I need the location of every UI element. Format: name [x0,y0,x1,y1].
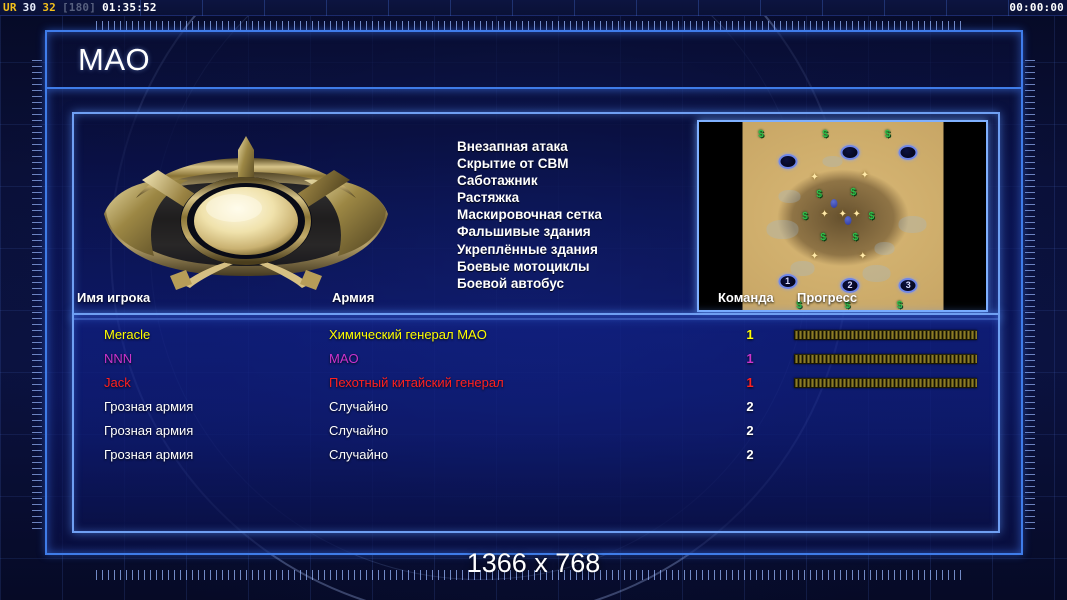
table-row[interactable]: Jack Пехотный китайский генерал 1 [74,371,998,395]
table-row[interactable]: Грозная армия Случайно 2 [74,443,998,467]
supply-dock-marker: $ [820,233,826,243]
table-row[interactable]: Грозная армия Случайно 2 [74,395,998,419]
supply-dock-marker: $ [758,130,764,140]
ability-item: Укреплённые здания [457,241,697,258]
progress-bar [794,330,977,340]
supply-dock-marker: $ [853,233,859,243]
supply-dock-marker: $ [869,212,875,222]
map-preview[interactable]: $$$$$$$$$$$$✦✦✦✦✦✦✦123 [697,120,988,312]
general-emblem-icon [96,136,396,298]
player-progress [794,378,977,388]
topbar-grid-line [760,0,761,16]
topbar-grid-line [636,0,637,16]
player-name: Jack [104,371,131,395]
fps-value: 30 [20,1,40,14]
topbar-grid-line [1008,0,1009,16]
topbar-grid-line [822,0,823,16]
topbar-grid-line [512,0,513,16]
player-team: 2 [740,419,760,443]
map-preview-image: $$$$$$$$$$$$✦✦✦✦✦✦✦123 [742,122,943,310]
resolution-label: 1366 x 768 [0,548,1067,579]
player-name: Грозная армия [104,395,193,419]
start-position-marker[interactable] [778,154,797,169]
supply-dock-marker: $ [851,188,857,198]
player-name: Грозная армия [104,443,193,467]
progress-bar [794,378,977,388]
topbar-grid-line [202,0,203,16]
ability-item: Боевые мотоциклы [457,258,697,275]
supply-dock-marker: $ [802,212,808,222]
player-name: Meracle [104,323,150,347]
ability-item: Маскировочная сетка [457,206,697,223]
start-position-marker[interactable] [899,145,918,160]
player-name: Грозная армия [104,419,193,443]
terrain-patch [778,190,800,203]
start-position-marker[interactable]: 1 [778,274,797,289]
topbar-grid-line [946,0,947,16]
supply-dock-marker: $ [885,130,891,140]
topbar-grid-line [574,0,575,16]
lobby-panel: MAO [45,30,1023,555]
topbar-grid-line [884,0,885,16]
terrain-patch [822,156,842,167]
emblem-container [74,114,409,318]
player-table: Meracle Химический генерал MAO 1 NNN MAO… [72,313,1000,533]
oil-derrick-marker [830,199,837,208]
ur-label: UR [0,1,20,14]
player-army: Случайно [329,395,388,419]
player-army: Случайно [329,419,388,443]
tech-building-marker: ✦ [859,252,867,262]
player-progress [794,330,977,340]
player-progress [794,354,977,364]
ruler-tick-right [1025,60,1035,530]
oil-derrick-marker [845,216,852,225]
player-team: 1 [740,323,760,347]
topbar-grid-line [388,0,389,16]
terrain-patch [899,216,927,233]
header-team: Команда [718,290,774,305]
header-army: Армия [332,290,374,305]
tech-building-marker: ✦ [820,210,828,220]
supply-dock-marker: $ [822,130,828,140]
terrain-patch [766,220,798,239]
player-name: NNN [104,347,132,371]
player-team: 1 [740,371,760,395]
tech-building-marker: ✦ [810,252,818,262]
terrain-patch [790,261,814,276]
player-team: 2 [740,395,760,419]
player-army: Химический генерал MAO [329,323,487,347]
countdown-timer: 00:00:00 [1006,1,1067,14]
terrain-patch [875,242,895,255]
page-title: MAO [78,42,150,78]
ruler-tick-left [32,60,42,530]
tech-building-marker: ✦ [853,210,861,220]
panel-title-bar: MAO [47,32,1021,89]
topbar-grid-line [450,0,451,16]
supply-dock-marker: $ [816,190,822,200]
frame-budget: [180] [59,1,99,14]
topbar-grid-line [326,0,327,16]
debug-status-bar: UR 30 32 [180] 01:35:52 00:00:00 [0,0,1067,16]
header-progress: Прогресс [797,290,857,305]
player-team: 1 [740,347,760,371]
general-info-panel: Внезапная атака Скрытие от СВМ Саботажни… [72,112,1000,320]
game-lobby-screen: UR 30 32 [180] 01:35:52 00:00:00 MAO [0,0,1067,600]
ability-item: Растяжка [457,189,697,206]
header-player-name: Имя игрока [77,290,150,305]
tech-building-marker: ✦ [810,173,818,183]
tech-building-marker: ✦ [861,171,869,181]
player-army: MAO [329,347,359,371]
player-army: Пехотный китайский генерал [329,371,504,395]
player-table-header: Имя игрока Армия Команда Прогресс [77,290,995,312]
topbar-grid-line [140,0,141,16]
player-army: Случайно [329,443,388,467]
progress-bar [794,354,977,364]
terrain-patch [863,265,891,282]
topbar-grid-line [264,0,265,16]
general-abilities-list: Внезапная атака Скрытие от СВМ Саботажни… [409,114,697,318]
topbar-grid-line [698,0,699,16]
start-position-marker[interactable] [840,145,859,160]
table-row[interactable]: NNN MAO 1 [74,347,998,371]
ability-item: Фальшивые здания [457,223,697,240]
fps-alt-value: 32 [39,1,59,14]
table-row[interactable]: Meracle Химический генерал MAO 1 [74,323,998,347]
ability-item: Скрытие от СВМ [457,155,697,172]
player-team: 2 [740,443,760,467]
ability-item: Внезапная атака [457,138,697,155]
session-time: 01:35:52 [99,1,160,14]
table-row[interactable]: Грозная армия Случайно 2 [74,419,998,443]
ability-item: Саботажник [457,172,697,189]
